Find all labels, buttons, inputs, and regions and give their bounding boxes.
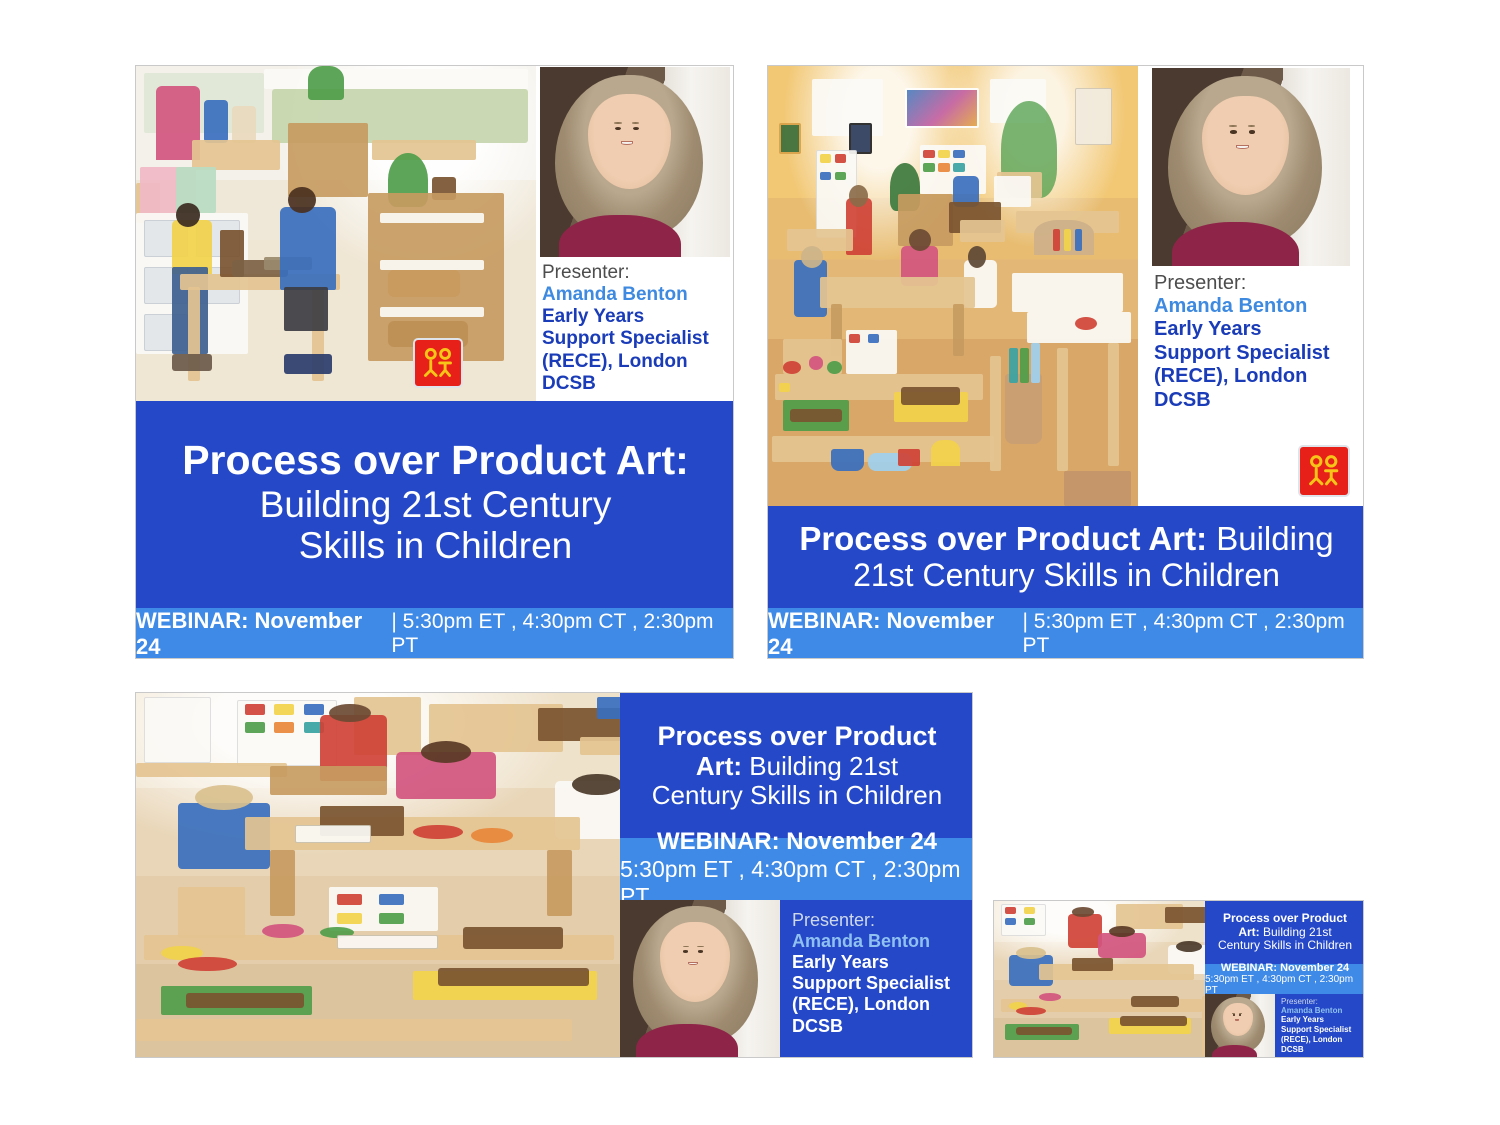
webinar-times: 5:30pm ET , 4:30pm CT , 2:30pm PT [1205,974,1364,996]
mouth [1235,1019,1239,1021]
presenter-name: Amanda Benton [792,931,968,952]
poster-variations-sheet: Presenter: Amanda Benton Early Years Sup… [0,0,1500,1125]
presenter-role-line-2: Support Specialist [542,328,731,350]
eye-right [633,127,639,130]
webinar-times: | 5:30pm ET , 4:30pm CT , 2:30pm PT [391,610,734,658]
shirt [1172,222,1299,266]
eyebrow-right [632,122,640,124]
presenter-role-line-1: Early Years [542,306,731,328]
presenter-text-block: Presenter: Amanda Benton Early Years Sup… [792,910,968,1037]
classroom-photo-overhead-wide [768,66,1138,506]
eye-left [683,950,688,953]
presenter-name: Amanda Benton [542,284,731,306]
presenter-name: Amanda Benton [1154,295,1359,318]
eye-right [1249,130,1256,133]
presenter-headshot [540,67,730,257]
card2-title-block: Process over Product Art: Building 21st … [768,506,1364,608]
presenter-role-line-2: Support Specialist [1154,342,1359,366]
presenter-role-line-4: DCSB [542,373,731,395]
presenter-role-line-4: DCSB [1281,1045,1363,1055]
card1-presenter-panel: Presenter: Amanda Benton Early Years Sup… [536,66,734,401]
eyebrow-left [1229,125,1237,127]
mouth [1236,145,1248,149]
webinar-date-label: WEBINAR: November 24 [768,608,1016,659]
eyebrow-right [1239,1013,1242,1014]
card4-text-column: Process over Product Art: Building 21st … [1205,901,1364,1058]
card1-webinar-bar: WEBINAR: November 24 | 5:30pm ET , 4:30p… [136,608,734,659]
title-regular-part: Building 21st [1260,925,1332,939]
title-line-1: Process over Product [1208,912,1362,925]
presenter-role-line-3: (RECE), London [792,994,968,1015]
webinar-card-vertical-stacked-title: Presenter: Amanda Benton Early Years Sup… [135,65,734,659]
eye-left [615,127,621,130]
webinar-date-label: WEBINAR: November 24 [657,828,937,856]
photo-props [136,66,536,401]
title-strong-part: Art: [1238,925,1259,939]
eye-right [1239,1014,1241,1015]
card2-webinar-bar: WEBINAR: November 24 | 5:30pm ET , 4:30p… [768,608,1364,659]
classroom-photo-sensory-table [136,66,536,401]
presenter-text-block: Presenter: Amanda Benton Early Years Sup… [1154,272,1359,412]
eyebrow-left [1232,1013,1235,1014]
presenter-label: Presenter: [792,910,968,931]
eye-left [1230,130,1237,133]
title-line-1: Process over Product [626,721,968,751]
title-regular-part: Building [1207,520,1334,557]
presenter-role-line-2: Support Specialist [792,973,968,994]
children-logo-icon [413,338,463,388]
title-strong-part: Art: [696,751,742,781]
presenter-label: Presenter: [1154,272,1359,295]
presenter-role-line-3: (RECE), London [1281,1035,1363,1045]
card1-title-block: Process over Product Art: Building 21st … [136,401,734,608]
eye-left [1233,1014,1235,1015]
title-regular-part: Building 21st [742,751,898,781]
presenter-text-block: Presenter: Amanda Benton Early Years Sup… [1281,997,1363,1055]
presenter-headshot [1152,68,1350,266]
eyebrow-left [683,946,689,947]
mouth [688,962,698,965]
card3-webinar-bar: WEBINAR: November 24 5:30pm ET , 4:30pm … [620,838,973,900]
presenter-headshot [620,900,780,1058]
card1-top-row: Presenter: Amanda Benton Early Years Sup… [136,66,734,401]
webinar-date-label: WEBINAR: November 24 [1221,962,1349,974]
children-logo-icon [1298,445,1350,497]
card3-presenter-panel: Presenter: Amanda Benton Early Years Sup… [620,900,973,1058]
shirt [1212,1045,1257,1058]
title-line-2: Art: Building 21st [626,752,968,781]
presenter-role-line-1: Early Years [792,952,968,973]
presenter-label: Presenter: [542,262,731,284]
presenter-role-line-3: (RECE), London [1154,365,1359,389]
title-line-1: Process over Product Art: [152,438,719,484]
photo-props [768,66,1138,506]
webinar-date-label: WEBINAR: November 24 [136,608,385,659]
title-strong-part: Process over Product Art: [799,520,1207,557]
eyebrow-right [697,946,703,947]
title-line-2: Building 21st Century [152,484,719,525]
mouth [621,141,633,144]
title-line-2: Art: Building 21st [1208,926,1362,939]
card4-presenter-panel: Presenter: Amanda Benton Early Years Sup… [1205,994,1364,1058]
card4-title-block: Process over Product Art: Building 21st … [1205,901,1364,964]
title-line-3: Century Skills in Children [626,781,968,810]
presenter-role-line-3: (RECE), London [542,351,731,373]
webinar-card-thumbnail: Process over Product Art: Building 21st … [993,900,1364,1058]
title-line-1: Process over Product Art: Building [778,521,1355,558]
title-line-2: 21st Century Skills in Children [778,558,1355,594]
card2-presenter-panel: Presenter: Amanda Benton Early Years Sup… [1138,66,1364,506]
title-line-3: Century Skills in Children [1208,939,1362,952]
card4-webinar-bar: WEBINAR: November 24 5:30pm ET , 4:30pm … [1205,964,1364,994]
presenter-name: Amanda Benton [1281,1006,1363,1015]
card2-top-row: Presenter: Amanda Benton Early Years Sup… [768,66,1364,506]
card3-text-column: Process over Product Art: Building 21st … [620,693,973,1058]
title-line-3: Skills in Children [152,525,719,566]
card3-title-block: Process over Product Art: Building 21st … [620,693,973,838]
presenter-role-line-1: Early Years [1281,1015,1363,1025]
webinar-card-wide-banner: Process over Product Art: Building 21st … [135,692,973,1058]
presenter-role-line-1: Early Years [1154,318,1359,342]
presenter-label: Presenter: [1281,997,1363,1006]
eyebrow-right [1248,125,1256,127]
shirt [559,215,681,257]
presenter-role-line-2: Support Specialist [1281,1025,1363,1035]
presenter-role-line-4: DCSB [1154,389,1359,413]
presenter-role-line-4: DCSB [792,1016,968,1037]
presenter-text-block: Presenter: Amanda Benton Early Years Sup… [542,262,731,396]
webinar-times: | 5:30pm ET , 4:30pm CT , 2:30pm PT [1023,610,1364,658]
presenter-headshot [1205,994,1275,1058]
eye-right [698,950,703,953]
eyebrow-left [614,122,622,124]
webinar-card-tall-photo: Presenter: Amanda Benton Early Years Sup… [767,65,1364,659]
